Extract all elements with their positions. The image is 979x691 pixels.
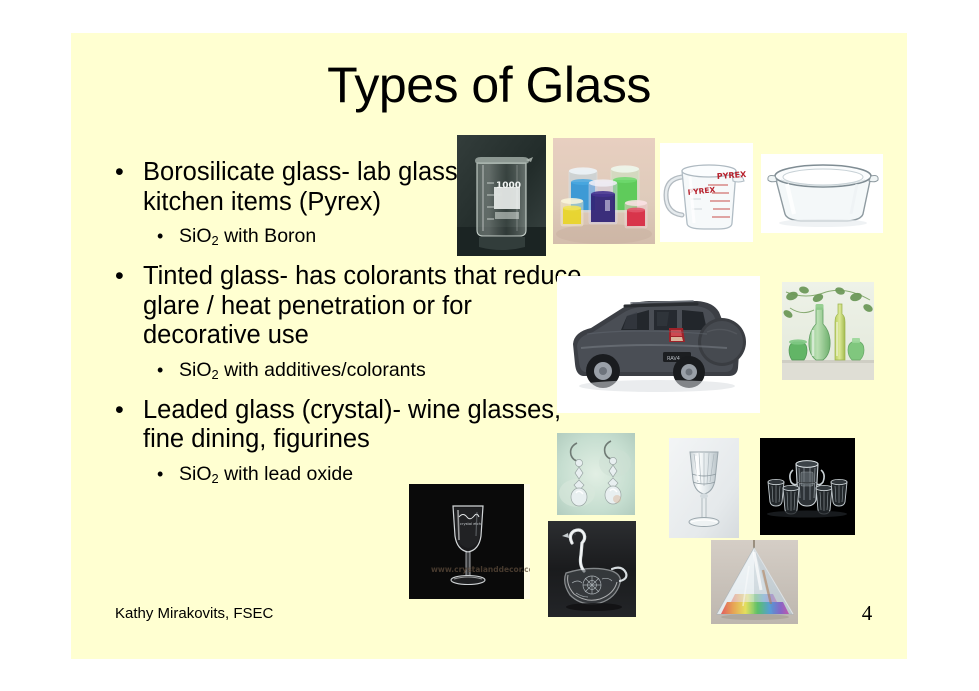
formula-tail: with additives/colorants (219, 359, 426, 381)
subbullet-text: SiO2 with additives/colorants (179, 357, 583, 388)
bullet-marker: • (113, 262, 143, 291)
formula-base: SiO (179, 225, 212, 247)
bullet-item-leaded: • Leaded glass (crystal)- wine glasses, … (113, 396, 583, 455)
lab-beaker-photo: 1000 ml (457, 135, 546, 256)
engraved-wine-glass-photo: crystal etch www.crystalanddecor.com (409, 484, 530, 599)
bullet-marker: • (157, 357, 179, 383)
formula-tail: with Boron (219, 225, 317, 247)
slide-canvas: Types of Glass • Borosilicate glass- lab… (0, 0, 979, 691)
crystal-earrings-photo (557, 433, 635, 515)
formula-base: SiO (179, 463, 212, 485)
formula-base: SiO (179, 359, 212, 381)
bullet-marker: • (113, 396, 143, 425)
page-number: 4 (847, 601, 887, 626)
formula-tail: with lead oxide (219, 463, 353, 485)
pyrex-measuring-cup-photo: PYREX PYREX (660, 143, 753, 242)
watermark-text: www.crystalanddecor.com (431, 565, 530, 574)
crystal-swan-figurine-photo (548, 521, 636, 617)
pyrex-baking-dish-photo (761, 154, 883, 233)
tinted-glass-suv-photo: RAV4 (557, 276, 760, 413)
bullet-marker: • (113, 158, 143, 187)
svg-text:crystal etch: crystal etch (460, 522, 481, 526)
green-glass-bottles-photo (782, 282, 874, 380)
bullet-text: Tinted glass- has colorants that reduce … (143, 262, 583, 351)
presentation-slide: Types of Glass • Borosilicate glass- lab… (71, 33, 907, 659)
footer-author: Kathy Mirakovits, FSEC (115, 605, 273, 622)
formula-subscript: 2 (212, 471, 219, 486)
crystal-prism-photo (711, 540, 798, 624)
colored-beakers-photo (553, 138, 655, 244)
crystal-shot-glass-set-photo (760, 438, 855, 535)
bullet-text: Leaded glass (crystal)- wine glasses, fi… (143, 396, 583, 455)
subbullet-item-additives: • SiO2 with additives/colorants (113, 357, 583, 388)
svg-text:ml: ml (496, 192, 502, 198)
formula-subscript: 2 (212, 367, 219, 382)
page-title: Types of Glass (71, 56, 907, 114)
bullet-marker: • (157, 461, 179, 487)
bullet-marker: • (157, 223, 179, 249)
crystal-wine-goblet-photo (669, 438, 739, 538)
bullet-item-tinted: • Tinted glass- has colorants that reduc… (113, 262, 583, 351)
formula-subscript: 2 (212, 233, 219, 248)
